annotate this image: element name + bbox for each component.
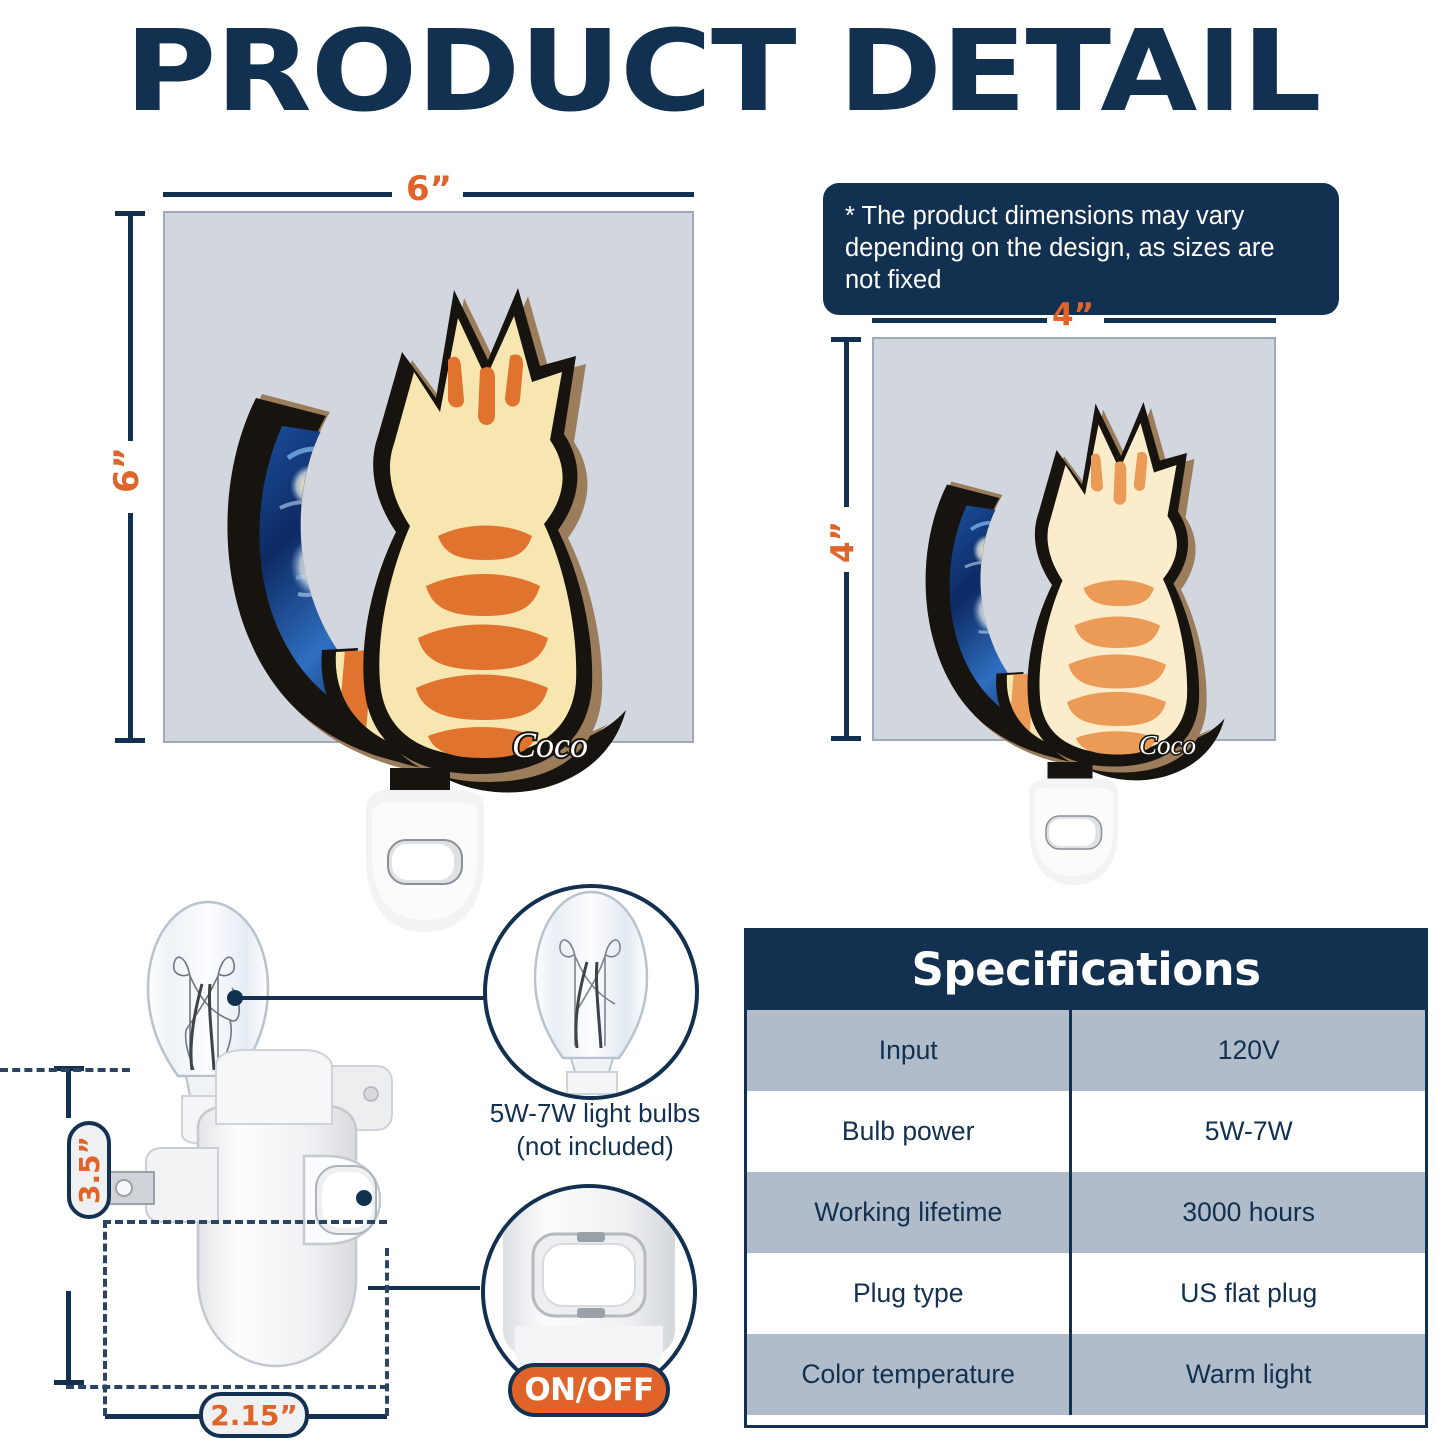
- dimension-label-small-height: 4”: [825, 511, 861, 573]
- pet-name-engraving-small: Coco: [1139, 730, 1196, 760]
- dimension-label-small-width: 4”: [1042, 297, 1104, 333]
- specifications-table: Specifications Input 120V Bulb power 5W-…: [744, 928, 1428, 1428]
- switch-leader-dot: [356, 1190, 372, 1206]
- spec-value: 3000 hours: [1072, 1172, 1425, 1253]
- dimension-cap-large-height-top: [115, 211, 145, 216]
- dashed-guide-bottom: [66, 1385, 388, 1389]
- table-row: Plug type US flat plug: [747, 1253, 1425, 1334]
- table-row: Input 120V: [747, 1010, 1425, 1091]
- spec-value: 5W-7W: [1072, 1091, 1425, 1172]
- dimension-line-small-height-top: [844, 337, 849, 507]
- specifications-title: Specifications: [747, 931, 1425, 1010]
- bulb-caption-line2: (not included): [440, 1130, 750, 1163]
- dimension-line-large-width-right: [463, 192, 694, 197]
- dimension-label-plug-depth: 2.15”: [199, 1392, 309, 1438]
- spec-value: 120V: [1072, 1010, 1425, 1091]
- page-title: PRODUCT DETAIL: [0, 14, 1445, 132]
- dimension-line-plug-depth-right: [305, 1414, 387, 1419]
- dashed-guide-top: [103, 1220, 387, 1224]
- dimension-line-small-width-right: [1104, 318, 1276, 323]
- night-light-side-view-with-bulb: [90, 880, 430, 1400]
- bulb-leader-line: [238, 996, 500, 1000]
- dimension-line-small-width-left: [872, 318, 1047, 323]
- bulb-callout-caption: 5W-7W light bulbs (not included): [440, 1097, 750, 1162]
- spec-key: Plug type: [747, 1253, 1072, 1334]
- dimension-cap-small-height-top: [831, 337, 861, 342]
- plug-depth-value: 2.15”: [210, 1399, 298, 1432]
- bulb-caption-line1: 5W-7W light bulbs: [440, 1097, 750, 1130]
- night-light-art-large: Coco: [196, 248, 656, 888]
- dimension-disclaimer-note: * The product dimensions may vary depend…: [823, 183, 1339, 315]
- dashed-guide-right: [385, 1248, 389, 1416]
- dimension-label-large-height: 6”: [107, 439, 147, 501]
- dimension-label-plug-height: 3.5”: [67, 1121, 111, 1219]
- dashed-guide-bulb: [0, 1068, 130, 1072]
- spec-key: Color temperature: [747, 1334, 1072, 1415]
- table-row: Bulb power 5W-7W: [747, 1091, 1425, 1172]
- dimension-line-plug-depth-left: [105, 1414, 203, 1419]
- dimension-line-large-height-top: [128, 211, 133, 441]
- spec-value: Warm light: [1072, 1334, 1425, 1415]
- on-off-badge: ON/OFF: [508, 1363, 670, 1417]
- spec-key: Working lifetime: [747, 1172, 1072, 1253]
- table-row: Color temperature Warm light: [747, 1334, 1425, 1415]
- night-light-plug-body: [102, 1050, 392, 1366]
- spec-key: Bulb power: [747, 1091, 1072, 1172]
- spec-key: Input: [747, 1010, 1072, 1091]
- dimension-cap-small-height-bottom: [831, 736, 861, 741]
- spec-value: US flat plug: [1072, 1253, 1425, 1334]
- bulb-callout-circle: [483, 884, 699, 1100]
- table-row: Working lifetime 3000 hours: [747, 1172, 1425, 1253]
- dimension-line-large-height-bottom: [128, 513, 133, 743]
- dimension-cap-large-height-bottom: [115, 738, 145, 743]
- dimension-line-plug-height-bottom: [66, 1291, 71, 1384]
- plug-height-value: 3.5”: [73, 1136, 106, 1204]
- pet-name-engraving-large: Coco: [512, 725, 588, 765]
- dimension-line-small-height-bottom: [844, 572, 849, 741]
- dimension-line-plug-height-top: [66, 1066, 71, 1118]
- night-light-art-small: Coco: [902, 362, 1247, 862]
- dimension-line-large-width-left: [163, 192, 392, 197]
- dimension-label-large-width: 6”: [398, 169, 460, 209]
